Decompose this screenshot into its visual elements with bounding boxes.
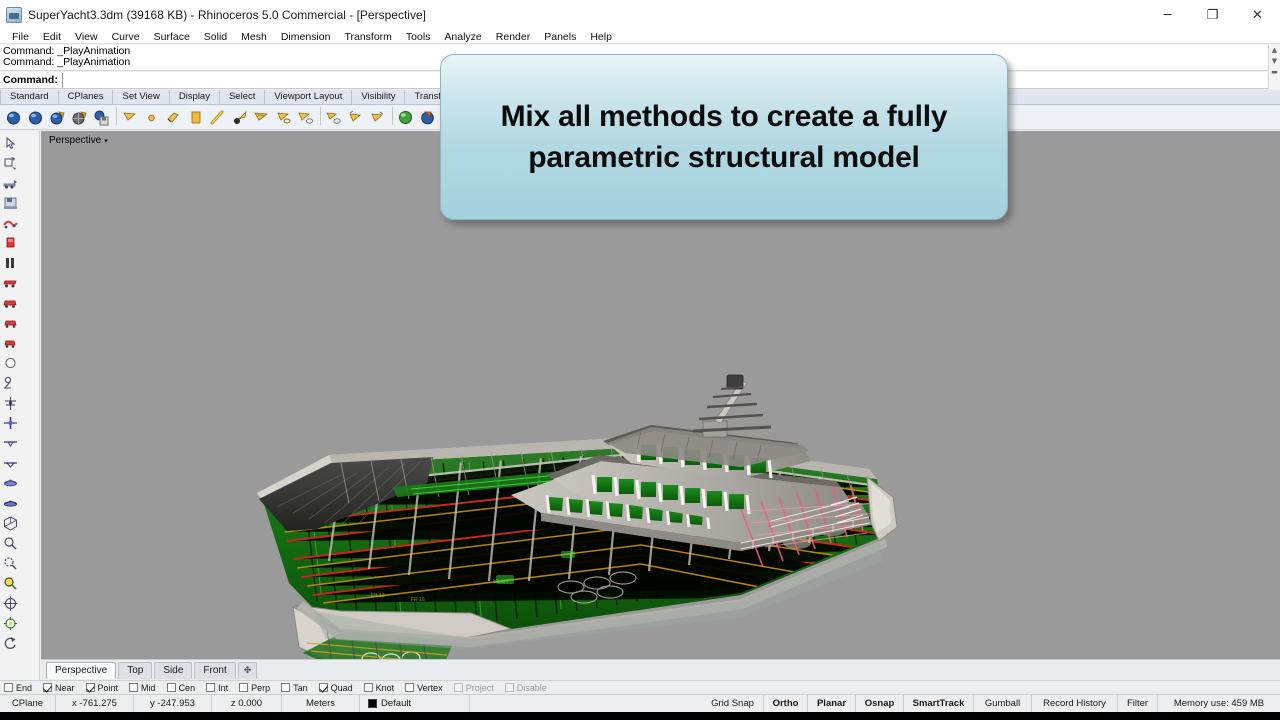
select-curves-icon[interactable] [345,107,366,128]
transform-tools-icon[interactable] [0,493,20,513]
toolbar-tab-visibility[interactable]: Visibility [352,90,405,104]
arc-icon[interactable] [0,313,20,333]
scroll-thumb-icon[interactable]: ▬ [1271,67,1278,78]
mesh-tools-icon[interactable] [0,473,20,493]
chevron-down-icon[interactable]: ▾ [104,137,108,145]
polyline-icon[interactable] [0,253,20,273]
menu-item-edit[interactable]: Edit [36,30,68,44]
osnap-near-checkbox[interactable] [43,683,52,692]
command-scrollbar[interactable]: ▲ ▼ ▬ [1268,45,1280,89]
curve-interpolate-icon[interactable] [0,353,20,373]
rendered-view-icon[interactable] [417,107,438,128]
osnap-cen-label: Cen [179,683,196,693]
viewport-tab-side[interactable]: Side [154,662,192,679]
status-memory-use: Memory use: 459 MB [1158,695,1280,713]
callout-overlay: Mix all methods to create a fully parame… [440,54,1008,220]
status-toggle-record-history[interactable]: Record History [1032,695,1118,713]
menu-item-help[interactable]: Help [583,30,619,44]
status-cplane[interactable]: CPlane [0,695,56,713]
solid-tools-icon[interactable] [0,453,20,473]
undo-icon[interactable] [229,107,250,128]
osnap-tan-label: Tan [293,683,308,693]
save-view-icon[interactable] [0,193,20,213]
save-small-icon[interactable] [91,107,112,128]
osnap-cen-checkbox[interactable] [167,683,176,692]
osnap-tan-checkbox[interactable] [281,683,290,692]
toolbar-tab-set-view[interactable]: Set View [113,90,169,104]
menu-item-file[interactable]: File [5,30,36,44]
osnap-end-label: End [16,683,32,693]
rhino-app-icon [6,7,22,23]
svg-text:SECT: SECT [493,579,509,585]
set-cplane-icon[interactable] [0,613,20,633]
osnap-disable-checkbox[interactable] [505,683,514,692]
osnap-perp[interactable]: Perp [239,683,270,693]
menu-item-dimension[interactable]: Dimension [274,30,338,44]
left-toolbar [0,131,40,680]
osnap-point[interactable]: Point [86,683,119,693]
save-as-icon[interactable] [69,107,90,128]
osnap-point-label: Point [98,683,119,693]
osnap-end-checkbox[interactable] [4,683,13,692]
status-y-coordinate: y -247.953 [134,695,212,713]
osnap-knot-label: Knot [376,683,395,693]
select-surfaces-icon[interactable] [367,107,388,128]
viewport-label[interactable]: Perspective ▾ [46,134,111,147]
status-bar: CPlane x -761.275 y -247.953 z 0.000 Met… [0,694,1280,712]
osnap-quad-label: Quad [331,683,353,693]
osnap-int[interactable]: Int [206,683,228,693]
osnap-disable-label: Disable [517,683,547,693]
status-layer-label: Default [381,698,411,709]
status-toggle-planar[interactable]: Planar [808,695,856,713]
line-tools-icon[interactable] [0,233,20,253]
osnap-near[interactable]: Near [43,683,75,693]
toolbar-tab-display[interactable]: Display [170,90,220,104]
status-toggle-ortho[interactable]: Ortho [764,695,808,713]
rotate-view-icon[interactable] [0,633,20,653]
window-controls: ─ ❐ ✕ [1145,0,1280,30]
freeform-curve-icon[interactable] [0,373,20,393]
gumball-icon[interactable] [273,107,294,128]
osnap-int-checkbox[interactable] [206,683,215,692]
toolbar-tab-select[interactable]: Select [220,90,265,104]
object-snap-bar: End Near Point Mid Cen Int Perp Tan [0,680,1280,694]
osnap-mid[interactable]: Mid [129,683,156,693]
layer-color-swatch [368,699,377,708]
rectangle-icon[interactable] [0,273,20,293]
osnap-near-label: Near [55,683,75,693]
osnap-knot-checkbox[interactable] [364,683,373,692]
shaded-view-icon[interactable] [395,107,416,128]
bottom-letterbox-strip [0,712,1280,720]
viewport-tab-top[interactable]: Top [118,662,152,679]
svg-text:FR 16: FR 16 [411,597,425,603]
surface-tools-icon[interactable] [0,413,20,433]
svg-text:FR 12: FR 12 [371,593,385,599]
menu-item-panels[interactable]: Panels [537,30,583,44]
redo-icon[interactable] [251,107,272,128]
add-viewport-button[interactable]: ✤ [238,662,258,679]
ellipse-icon[interactable] [0,333,20,353]
title-bar: SuperYacht3.3dm (39168 KB) - Rhinoceros … [0,0,1280,30]
status-toggle-filter[interactable]: Filter [1118,695,1158,713]
open-file-icon[interactable] [25,107,46,128]
menu-item-mesh[interactable]: Mesh [234,30,274,44]
select-arrow-icon[interactable] [0,133,20,153]
osnap-point-checkbox[interactable] [86,683,95,692]
osnap-vertex[interactable]: Vertex [405,683,443,693]
toolbar-tab-standard[interactable]: Standard [0,90,59,104]
osnap-project-checkbox[interactable] [454,683,463,692]
menu-item-render[interactable]: Render [489,30,537,44]
osnap-knot[interactable]: Knot [364,683,395,693]
copy-icon[interactable] [185,107,206,128]
osnap-vertex-label: Vertex [417,683,443,693]
osnap-perp-label: Perp [251,683,270,693]
menu-item-tools[interactable]: Tools [399,30,438,44]
maximize-button[interactable]: ❐ [1190,0,1235,30]
paste-icon[interactable] [207,107,228,128]
select-window-icon[interactable] [0,153,20,173]
scroll-up-icon[interactable]: ▲ [1272,45,1277,56]
menu-item-analyze[interactable]: Analyze [437,30,488,44]
curve-tools-icon[interactable] [0,213,20,233]
point-icon[interactable] [0,393,20,413]
new-file-icon[interactable] [3,107,24,128]
osnap-perp-checkbox[interactable] [239,683,248,692]
pan-view-icon[interactable] [0,593,20,613]
toolbar-tab-cplanes[interactable]: CPlanes [59,90,114,104]
command-prompt-label: Command: [0,74,62,86]
osnap-end[interactable]: End [4,683,32,693]
osnap-quad-checkbox[interactable] [319,683,328,692]
osnap-mid-label: Mid [141,683,156,693]
zoom-selected-icon[interactable] [0,573,20,593]
close-button[interactable]: ✕ [1235,0,1280,30]
status-units[interactable]: Meters [282,695,360,713]
scroll-down-icon[interactable]: ▼ [1272,56,1277,67]
status-z-coordinate: z 0.000 [212,695,282,713]
zoom-window-icon[interactable] [0,533,20,553]
box-solid-icon[interactable] [0,513,20,533]
point-object-icon[interactable] [141,107,162,128]
status-x-coordinate: x -761.275 [56,695,134,713]
menu-item-view[interactable]: View [68,30,105,44]
undo-view-icon[interactable] [0,173,20,193]
minimize-button[interactable]: ─ [1145,0,1190,30]
osnap-tan[interactable]: Tan [281,683,308,693]
viewport-tab-bar: Perspective Top Side Front ✤ [41,659,1280,680]
window-title: SuperYacht3.3dm (39168 KB) - Rhinoceros … [28,8,426,22]
menu-item-curve[interactable]: Curve [105,30,147,44]
menu-bar: File Edit View Curve Surface Solid Mesh … [0,30,1280,44]
callout-text: Mix all methods to create a fully parame… [463,96,985,178]
osnap-int-label: Int [218,683,228,693]
osnap-disable[interactable]: Disable [505,683,547,693]
zoom-extents-icon[interactable] [0,553,20,573]
status-current-layer[interactable]: Default [360,695,470,713]
menu-item-transform[interactable]: Transform [337,30,398,44]
select-objects-icon[interactable] [295,107,316,128]
status-toggle-grid-snap[interactable]: Grid Snap [702,695,764,713]
osnap-project-label: Project [466,683,494,693]
print-icon[interactable] [119,107,140,128]
osnap-quad[interactable]: Quad [319,683,353,693]
viewport-label-text: Perspective [49,135,101,146]
rhino-application-window: SuperYacht3.3dm (39168 KB) - Rhinoceros … [0,0,1280,720]
viewport-tab-perspective[interactable]: Perspective [46,662,116,679]
menu-item-surface[interactable]: Surface [147,30,197,44]
cut-icon[interactable] [163,107,184,128]
viewport-tab-front[interactable]: Front [194,662,235,679]
save-file-icon[interactable] [47,107,68,128]
osnap-mid-checkbox[interactable] [129,683,138,692]
menu-item-solid[interactable]: Solid [197,30,234,44]
osnap-cen[interactable]: Cen [167,683,196,693]
status-toggle-gumball[interactable]: Gumball [974,695,1032,713]
osnap-vertex-checkbox[interactable] [405,683,414,692]
osnap-project[interactable]: Project [454,683,494,693]
circle-icon[interactable] [0,293,20,313]
status-toggle-smarttrack[interactable]: SmartTrack [904,695,974,713]
status-toggle-osnap[interactable]: Osnap [856,695,904,713]
extrude-surface-icon[interactable] [0,433,20,453]
select-points-icon[interactable] [323,107,344,128]
toolbar-tab-viewport-layout[interactable]: Viewport Layout [265,90,352,104]
